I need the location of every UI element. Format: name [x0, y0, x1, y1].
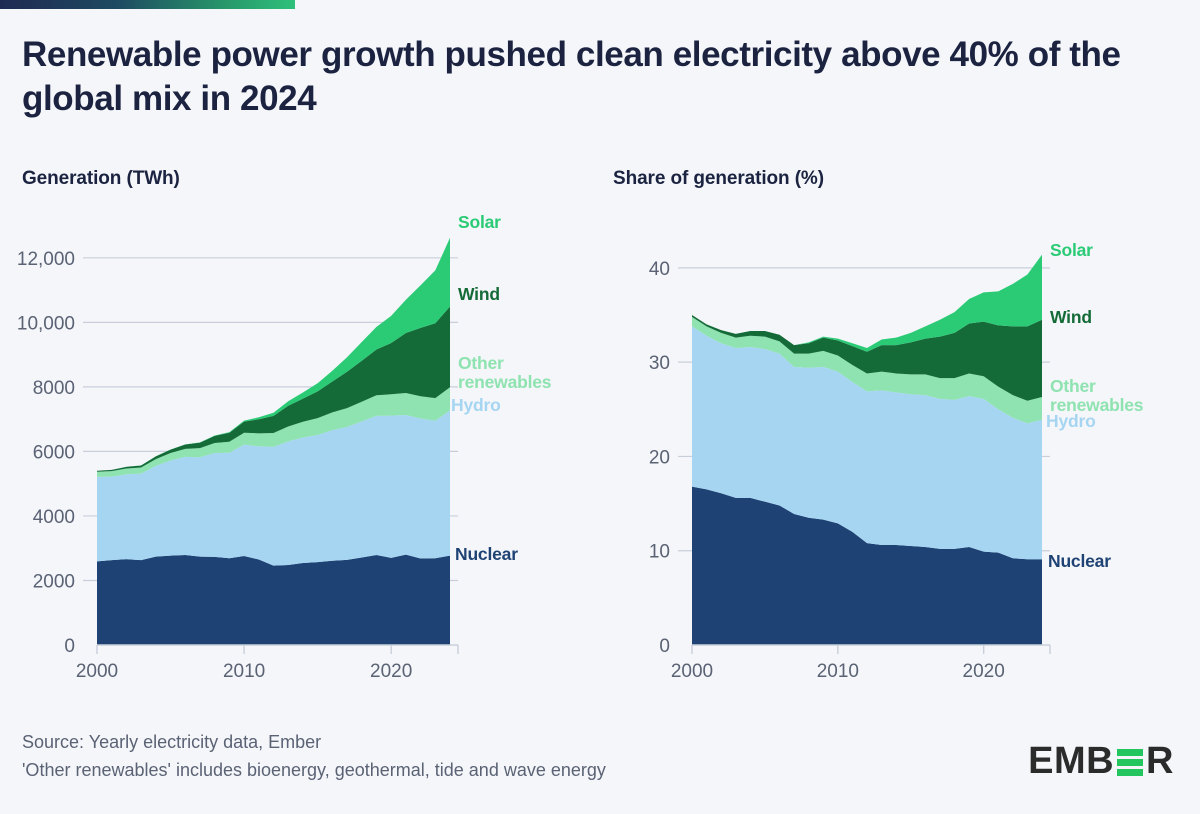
series-label-solar: Solar [458, 212, 501, 232]
chart-generation: 0200040006000800010,00012,00020002010202… [17, 212, 552, 682]
y-tick-label: 6000 [33, 442, 75, 463]
series-label-other-renewables: Other [458, 353, 504, 373]
y-tick-label: 0 [64, 636, 75, 657]
ember-bars-e-icon [1117, 749, 1143, 776]
y-tick-label: 0 [659, 636, 670, 657]
x-tick-label: 2010 [817, 661, 859, 682]
x-tick-label: 2020 [370, 661, 412, 682]
logo-text-emb: EMB [1028, 742, 1114, 780]
ember-logo: EMB R [1028, 742, 1174, 780]
infographic-page: Renewable power growth pushed clean elec… [0, 0, 1200, 814]
y-tick-label: 2000 [33, 571, 75, 592]
x-tick-label: 2000 [76, 661, 118, 682]
y-tick-label: 12,000 [17, 249, 75, 270]
area-nuclear [97, 555, 450, 645]
series-label-other-renewables: renewables [458, 372, 552, 392]
source-line: Source: Yearly electricity data, Ember [22, 729, 606, 757]
y-tick-label: 8000 [33, 378, 75, 399]
y-tick-label: 30 [649, 353, 670, 374]
y-tick-label: 10,000 [17, 313, 75, 334]
logo-text-r: R [1146, 742, 1174, 780]
y-tick-label: 40 [649, 259, 670, 280]
x-tick-label: 2020 [963, 661, 1005, 682]
series-label-hydro: Hydro [1046, 411, 1096, 431]
y-tick-label: 20 [649, 447, 670, 468]
series-label-nuclear: Nuclear [1048, 551, 1111, 571]
series-label-wind: Wind [1050, 307, 1092, 327]
series-label-hydro: Hydro [451, 395, 501, 415]
x-tick-label: 2000 [671, 661, 713, 682]
chart-share: 010203040200020102020SolarWindOtherrenew… [649, 240, 1144, 682]
footnote-line: 'Other renewables' includes bioenergy, g… [22, 757, 606, 785]
stacked-area-charts: 0200040006000800010,00012,00020002010202… [0, 0, 1200, 700]
x-tick-label: 2010 [223, 661, 265, 682]
series-label-nuclear: Nuclear [455, 544, 518, 564]
y-tick-label: 4000 [33, 507, 75, 528]
y-tick-label: 10 [649, 542, 670, 563]
series-label-solar: Solar [1050, 240, 1093, 260]
series-label-other-renewables: Other [1050, 376, 1096, 396]
series-label-wind: Wind [458, 284, 500, 304]
source-footnote: Source: Yearly electricity data, Ember '… [22, 729, 606, 785]
charts-container: 0200040006000800010,00012,00020002010202… [0, 0, 1200, 700]
